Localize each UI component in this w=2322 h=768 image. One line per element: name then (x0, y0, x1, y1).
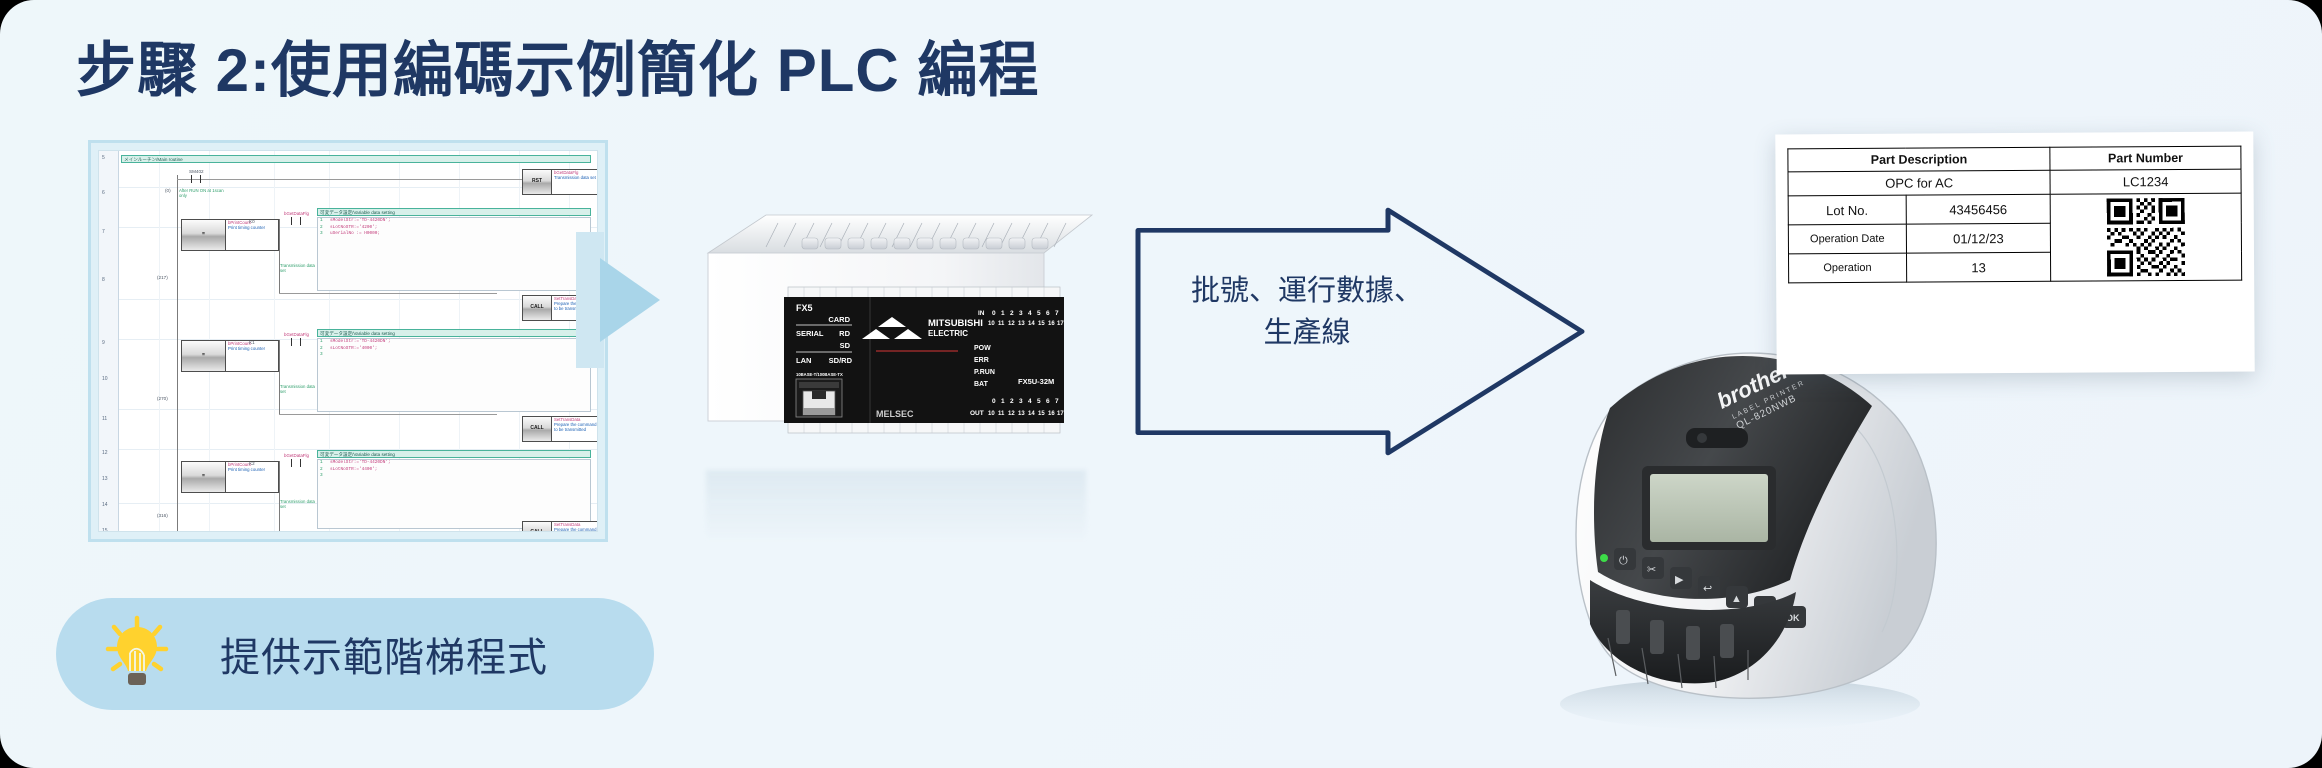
cell-operation-value: 13 (1906, 252, 2051, 282)
plc-ethernet-label: 10BASE-T/100BASE-TX (796, 372, 843, 377)
io-bit: 0 (992, 310, 996, 317)
plc-out-label: OUT (970, 410, 984, 417)
plc-card-label: CARD (828, 315, 850, 324)
symbol-comment: Print timing counter (228, 346, 265, 351)
rung-wire (279, 461, 280, 531)
call-instruction-block: CALL (522, 521, 552, 532)
up-button[interactable]: ▲ (1726, 586, 1748, 608)
cell-part-number: LC1234 (2050, 169, 2241, 194)
connector-arrow (600, 258, 660, 342)
feed-button[interactable]: ▶ (1670, 567, 1692, 589)
call-note: SetTransData Prepare the command line to… (552, 521, 598, 532)
io-bit: 4 (1028, 310, 1032, 317)
tip-text: 提供示範階梯程式 (220, 625, 548, 683)
rung-wire (177, 179, 522, 180)
slide-canvas: 步驟 2:使用編碼示例簡化 PLC 編程 5 6 7 8 (0, 0, 2322, 768)
code-section-header: 可変データ設定/Variable data setting (317, 450, 591, 458)
rung-comment: Transmission data set (280, 384, 316, 395)
arrow-label-line2: 生產線 (1172, 312, 1442, 354)
io-bit: 15 (1038, 321, 1045, 327)
device-address: K2 (249, 461, 255, 466)
rung-number: 14 (102, 503, 108, 509)
io-bit: 17 (1057, 411, 1064, 417)
io-bit: 5 (1037, 398, 1041, 405)
led-label-bat: BAT (974, 381, 989, 388)
rung-comment: Transmission data set (280, 499, 316, 510)
io-bit: 6 (1046, 398, 1050, 405)
plc-series-label: FX5 (796, 303, 813, 313)
io-bit: 5 (1037, 310, 1041, 317)
power-led (1600, 554, 1608, 562)
plc-rd-label: RD (839, 329, 850, 338)
io-bit: 14 (1028, 321, 1035, 327)
symbol-comment: Prepare the command line to be transmitt… (554, 527, 598, 532)
code-line: 2sLotNoSTR:='4400'; (318, 467, 590, 474)
io-bit: 7 (1055, 398, 1059, 405)
symbol-name: bGetDataFlg (284, 332, 309, 337)
call-instruction-block: CALL (522, 416, 552, 442)
symbol-name: bGetDataFlg (284, 453, 309, 458)
compare-block: = (181, 461, 226, 493)
cell-operation-date-value: 01/12/23 (1906, 223, 2051, 253)
lightbulb-icon (100, 613, 174, 695)
rung-number: 9 (102, 341, 105, 347)
qr-code-cell (2050, 193, 2241, 281)
call-instruction-block: CALL (522, 295, 552, 321)
io-bit: 15 (1038, 411, 1045, 417)
device-label: (217) (157, 275, 168, 280)
routine-header: メインルーチン/Main routine (121, 155, 591, 163)
rung-number: 15 (102, 529, 108, 532)
plc-serial-label: SERIAL (796, 329, 824, 338)
svg-text:▲: ▲ (1731, 593, 1742, 605)
led-label-pow: POW (974, 345, 991, 352)
arrow-label-line1: 批號、運行數據、 (1172, 270, 1442, 312)
cell-operation-label: Operation (1789, 253, 1907, 283)
bulb-base (128, 673, 146, 685)
io-bit: 11 (998, 411, 1005, 417)
cell-lot-label: Lot No. (1788, 195, 1906, 225)
contact-symbol (191, 175, 201, 183)
cell-operation-date-label: Operation Date (1788, 224, 1906, 254)
cover-latch (1686, 428, 1748, 448)
code-line: 1sModelStr:='TD-4420DN'; (318, 339, 590, 346)
plc-lan-label: LAN (796, 356, 811, 365)
rung-comment: Transmission data set (280, 263, 316, 274)
call-note: SetTransData Prepare the command line to… (552, 416, 598, 442)
tip-callout: 提供示範階梯程式 (56, 598, 654, 710)
ladder-canvas: 5 6 7 8 9 10 11 12 13 14 15 メインルーチン/Main… (98, 150, 598, 532)
rst-note: bGetDataFlg Transmission data set (552, 169, 598, 195)
page-title: 步驟 2:使用編碼示例簡化 PLC 編程 (76, 22, 1039, 109)
symbol-comment: Print timing counter (228, 467, 265, 472)
io-bit: 3 (1019, 398, 1023, 405)
io-bit: 3 (1019, 310, 1023, 317)
rung-comment: After RUN ON at 1scan only (179, 188, 229, 199)
plc-reflection (706, 470, 1086, 540)
plc-model: FX5U-32M (1018, 377, 1054, 386)
svg-text:⏻: ⏻ (1619, 555, 1628, 567)
io-bit: 6 (1046, 310, 1050, 317)
back-button[interactable]: ↩ (1698, 576, 1720, 598)
rung-number: 8 (102, 278, 105, 284)
device-label: (316) (157, 513, 168, 518)
printed-label: Part Description Part Number OPC for AC … (1775, 132, 2254, 375)
compare-block: = (181, 219, 226, 251)
col-part-number: Part Number (2050, 146, 2241, 170)
symbol-name: bGetDataFlg (284, 211, 309, 216)
code-line: 1sModelStr:='TD-4420DN'; (318, 218, 590, 225)
grid-line (159, 151, 160, 531)
device-label: (0) (165, 188, 171, 193)
led-label-prun: P.RUN (974, 369, 995, 376)
io-bit: 13 (1018, 321, 1025, 327)
io-bit: 13 (1018, 411, 1025, 417)
symbol-comment: Prepare the command line to be transmitt… (554, 422, 598, 432)
rung-wire (279, 414, 497, 415)
plc-sd-label: SD (840, 341, 851, 350)
contact-symbol (291, 338, 301, 346)
code-line: 2sLotNoSTR:='4000'; (318, 346, 590, 353)
io-bit: 10 (988, 411, 995, 417)
io-bit: 10 (988, 321, 995, 327)
st-code-block: 1sModelStr:='TD-4420DN'; 2sLotNoSTR:='42… (317, 217, 591, 291)
io-bit: 0 (992, 398, 996, 405)
io-bit: 12 (1008, 321, 1015, 327)
st-code-block: 1sModelStr:='TD-4420DN'; 2sLotNoSTR:='44… (317, 459, 591, 529)
rung-number: 11 (102, 417, 107, 423)
plc-in-label: IN (978, 310, 985, 317)
plc-family: MELSEC (876, 409, 914, 419)
rung-number: 10 (102, 377, 108, 383)
plc-brand: MITSUBISHI (928, 318, 983, 329)
svg-text:▶: ▶ (1675, 574, 1684, 586)
rung-number: 6 (102, 191, 105, 197)
table-row: Lot No. 43456456 (1788, 193, 2241, 225)
io-bit: 14 (1028, 411, 1035, 417)
device-label: SM402 (189, 169, 204, 174)
device-address: K1 (249, 340, 255, 345)
io-bit: 4 (1028, 398, 1032, 405)
rung-wire (279, 531, 497, 532)
code-line: 2sLotNoSTR:='4200'; (318, 225, 590, 232)
rung-wire (279, 340, 280, 414)
table-header-row: Part Description Part Number (1788, 146, 2241, 172)
code-line: 3uSerialNo := H0000; (318, 231, 590, 238)
rung-number: 5 (102, 156, 105, 162)
io-bit: 12 (1008, 411, 1015, 417)
symbol-comment: Print timing counter (228, 225, 265, 230)
label-table: Part Description Part Number OPC for AC … (1787, 146, 2242, 284)
plc-unit: FX5 CARD SERIAL RD SD LAN SD/RD 10BASE-T… (700, 205, 1100, 475)
heat-fins (802, 238, 1048, 249)
symbol-comment: Transmission data set (554, 175, 596, 180)
rung-number: 12 (102, 451, 108, 457)
rst-instruction-block: RST (522, 169, 552, 195)
arrow-label: 批號、運行數據、 生產線 (1172, 270, 1442, 354)
rung-number: 13 (102, 477, 108, 483)
contact-symbol (291, 217, 301, 225)
plc-sdrd-label: SD/RD (829, 356, 853, 365)
st-code-block: 1sModelStr:='TD-4420DN'; 2sLotNoSTR:='40… (317, 338, 591, 412)
io-bit: 2 (1010, 398, 1014, 405)
ladder-program-screenshot: 5 6 7 8 9 10 11 12 13 14 15 メインルーチン/Main… (88, 140, 608, 542)
qr-code (2107, 198, 2185, 276)
io-bit: 17 (1057, 321, 1064, 327)
io-bit: 1 (1001, 398, 1005, 405)
table-row: OPC for AC LC1234 (1788, 169, 2241, 196)
plc-brand-sub: ELECTRIC (928, 329, 968, 338)
led-label-err: ERR (974, 357, 989, 364)
code-line: 1sModelStr:='TD-4420DN'; (318, 460, 590, 467)
power-button[interactable]: ⏻ (1614, 548, 1636, 570)
svg-text:✂: ✂ (1647, 564, 1656, 576)
cut-button[interactable]: ✂ (1642, 557, 1664, 579)
io-bit: 7 (1055, 310, 1059, 317)
device-address: K0 (249, 219, 255, 224)
io-bit: 16 (1048, 321, 1055, 327)
device-label: (270) (157, 396, 168, 401)
rung-wire (279, 293, 497, 294)
svg-text:↩: ↩ (1703, 583, 1712, 595)
rung-wire (279, 219, 280, 293)
io-bit: 11 (998, 321, 1005, 327)
rung-number: 7 (102, 230, 105, 236)
power-rail (177, 175, 178, 532)
cell-part-description: OPC for AC (1788, 170, 2050, 196)
contact-symbol (291, 459, 301, 467)
cell-lot-value: 43456456 (1906, 194, 2051, 224)
io-bit: 16 (1048, 411, 1055, 417)
io-bit: 2 (1010, 310, 1014, 317)
col-part-description: Part Description (1788, 147, 2050, 172)
lcd-screen (1650, 474, 1768, 542)
io-bit: 1 (1001, 310, 1005, 317)
code-section-header: 可変データ設定/Variable data setting (317, 208, 591, 216)
code-section-header: 可変データ設定/Variable data setting (317, 329, 591, 337)
compare-block: = (181, 340, 226, 372)
